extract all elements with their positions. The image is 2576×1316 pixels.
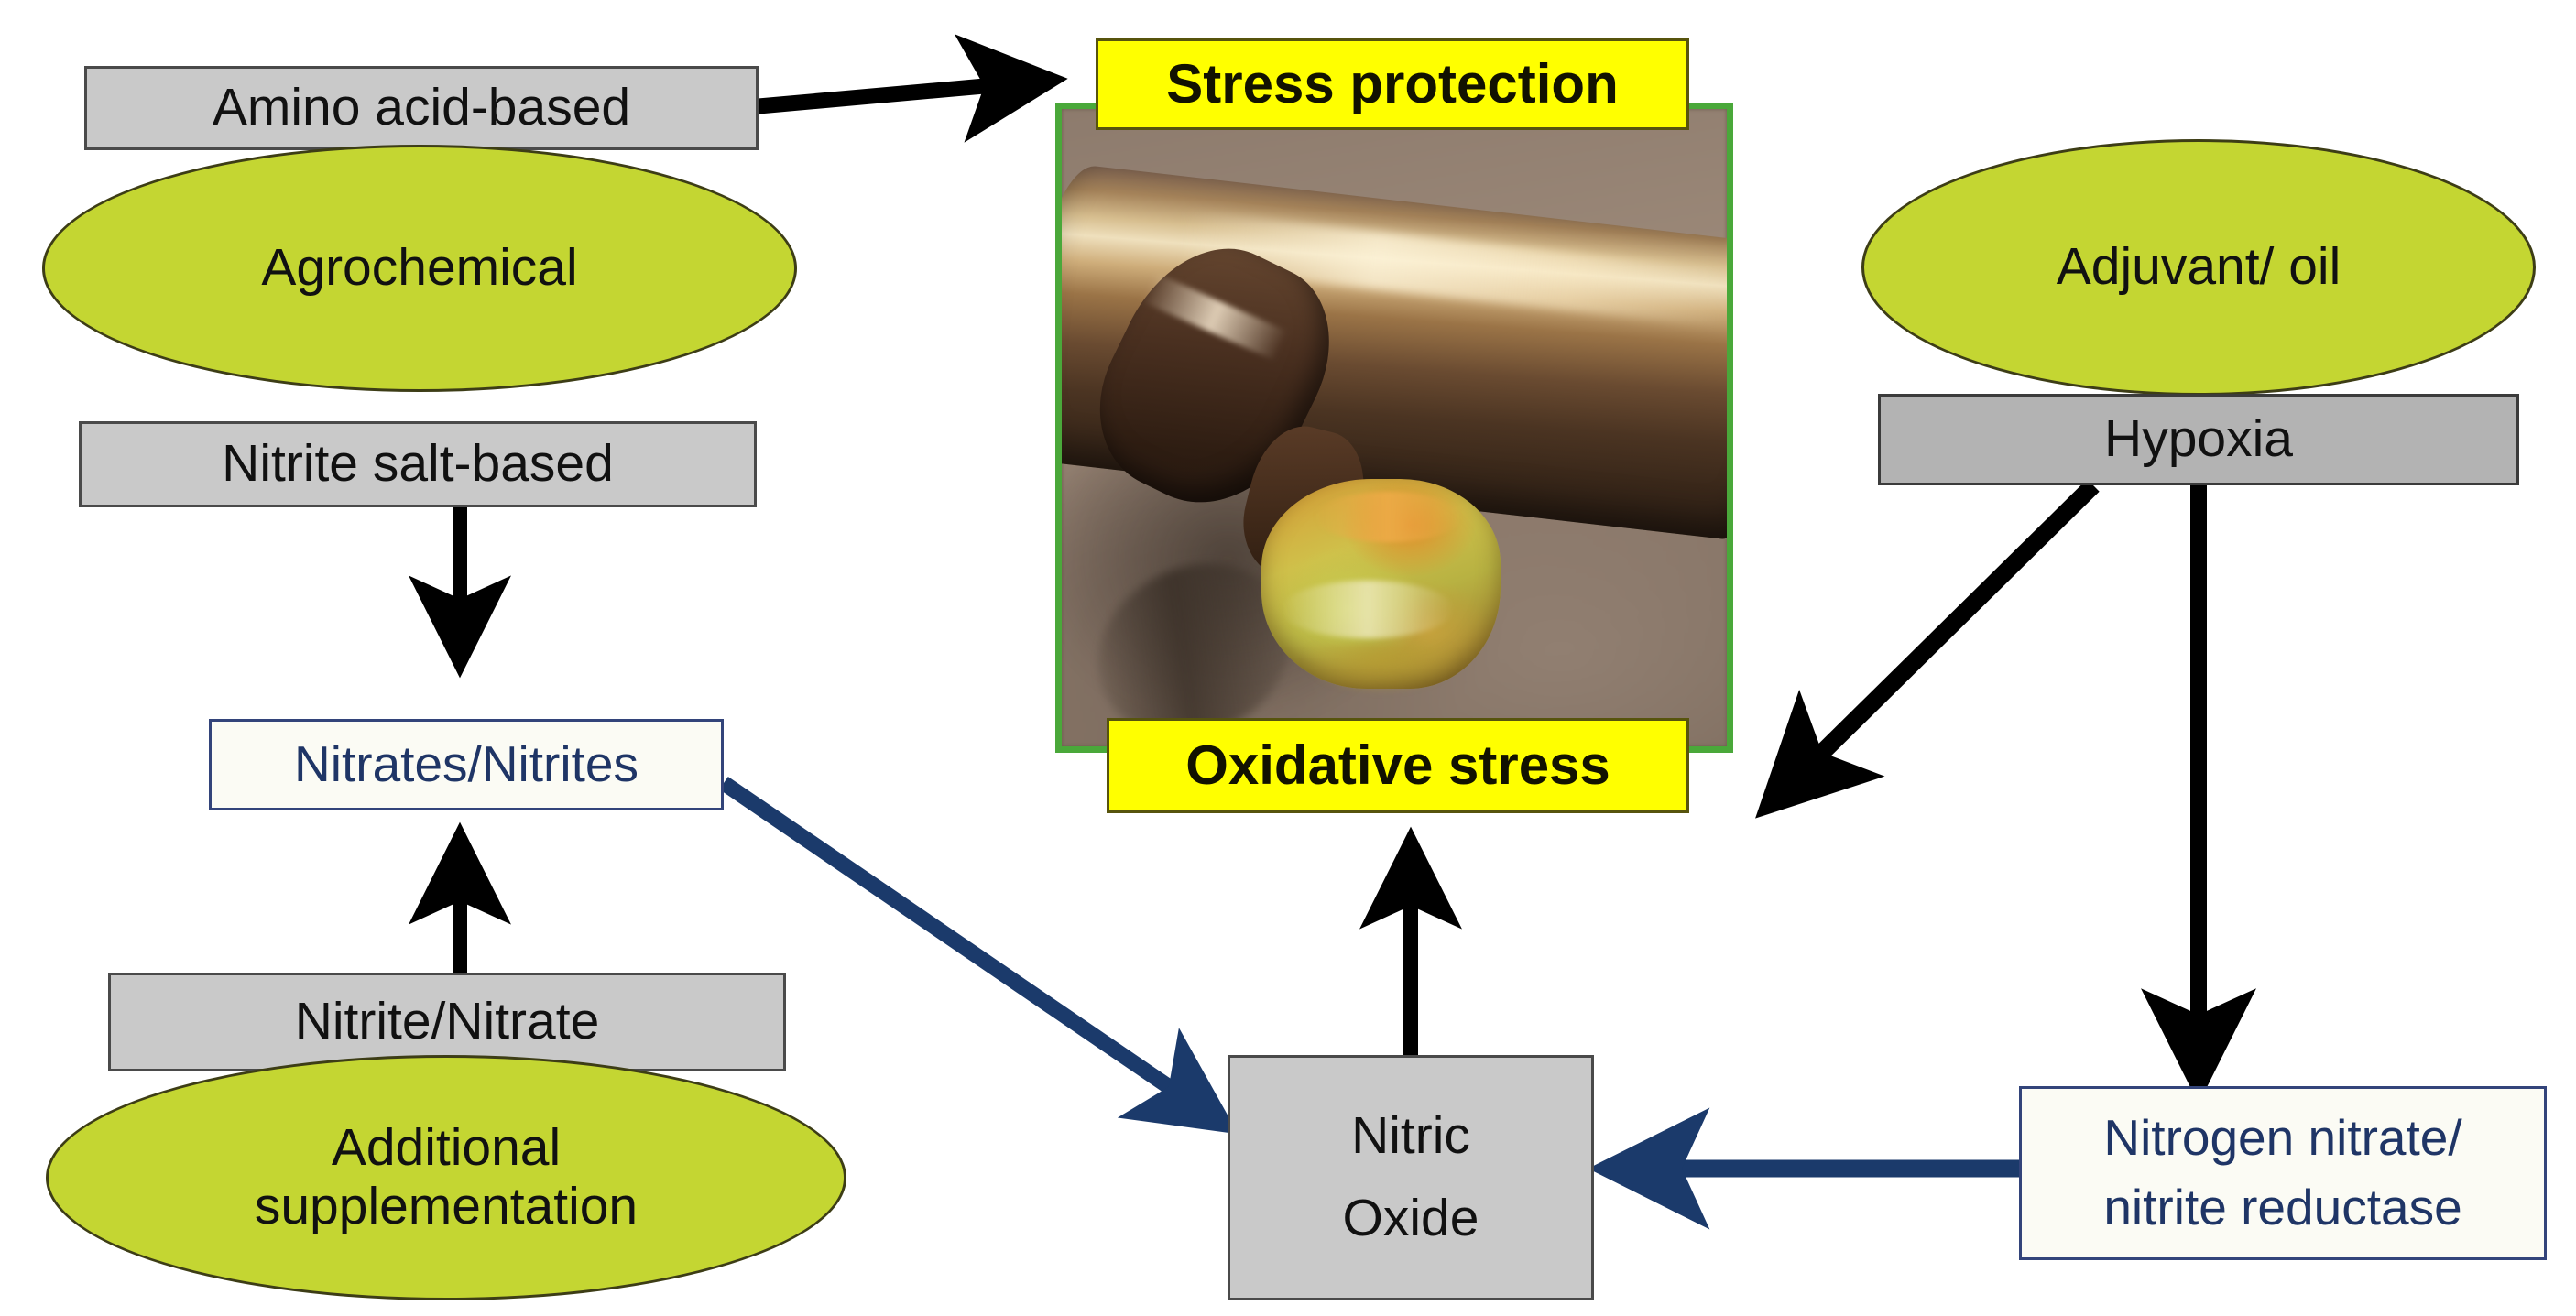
node-nitric-oxide-line1: Nitric [1351,1107,1470,1166]
arrow-nitrates-to-nitric-oxide [724,783,1220,1122]
photo-bud-scale-upper [1315,492,1461,543]
node-nitrates-nitrites[interactable]: Nitrates/Nitrites [209,719,724,810]
node-stress-protection-label: Stress protection [1166,53,1618,114]
arrow-amino-to-stress-protection [759,81,1046,106]
node-nitric-oxide-line2: Oxide [1343,1190,1479,1248]
node-agrochemical-label: Agrochemical [261,239,577,298]
dormant-bud-photo [1055,103,1733,753]
node-hypoxia[interactable]: Hypoxia [1878,394,2519,485]
node-adjuvant-oil-label: Adjuvant/ oil [2057,238,2341,297]
node-adjuvant-oil[interactable]: Adjuvant/ oil [1861,139,2536,396]
node-stress-protection[interactable]: Stress protection [1096,38,1689,130]
node-oxidative-stress[interactable]: Oxidative stress [1107,718,1689,813]
node-nitrogen-reductase-line1: Nitrogen nitrate/ [2103,1110,2461,1167]
node-nitrogen-reductase[interactable]: Nitrogen nitrate/ nitrite reductase [2019,1086,2547,1260]
photo-bud-tip [1301,645,1460,696]
diagram-canvas: Amino acid-based Agrochemical Nitrite sa… [0,0,2576,1316]
node-nitrite-nitrate-label: Nitrite/Nitrate [295,993,600,1051]
photo-bud-scale-lower [1282,581,1455,638]
node-hypoxia-label: Hypoxia [2104,410,2293,469]
node-nitrite-salt-based-label: Nitrite salt-based [222,435,614,494]
node-nitric-oxide[interactable]: Nitric Oxide [1228,1055,1594,1300]
photo-content [1062,109,1727,746]
node-additional-supplementation-line1: Additional [332,1119,561,1178]
node-nitrates-nitrites-label: Nitrates/Nitrites [294,736,639,793]
node-oxidative-stress-label: Oxidative stress [1185,734,1610,796]
node-amino-acid-based-label: Amino acid-based [213,79,630,137]
node-agrochemical[interactable]: Agrochemical [42,145,797,392]
node-nitrogen-reductase-line2: nitrite reductase [2103,1180,2461,1236]
node-amino-acid-based[interactable]: Amino acid-based [84,66,759,150]
arrow-hypoxia-to-oxidative-stress [1773,485,2093,801]
node-additional-supplementation[interactable]: Additional supplementation [46,1055,846,1300]
node-nitrite-salt-based[interactable]: Nitrite salt-based [79,421,757,507]
node-additional-supplementation-line2: supplementation [255,1178,638,1236]
